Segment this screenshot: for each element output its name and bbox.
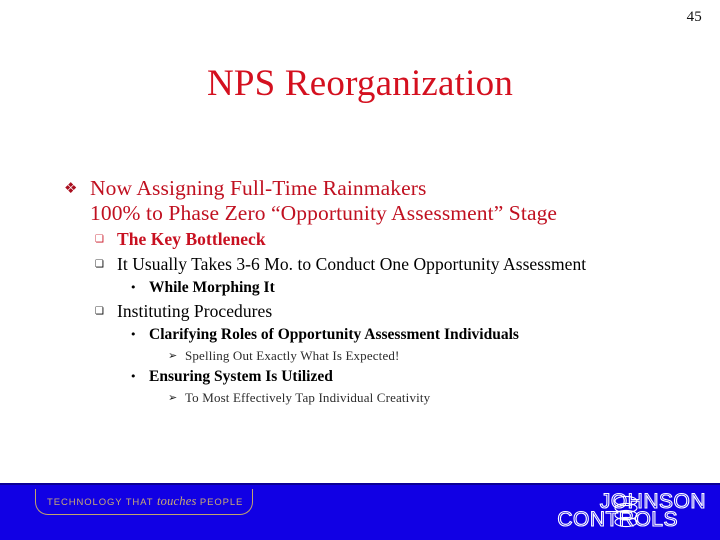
tagline-italic-word: touches <box>157 494 200 508</box>
bullet-text: Spelling Out Exactly What Is Expected! <box>185 346 720 365</box>
bullet-item: ➢ To Most Effectively Tap Individual Cre… <box>168 388 720 407</box>
tagline: TECHNOLOGY THAT touches PEOPLE <box>47 494 243 509</box>
bullet-level1-line1: Now Assigning Full-Time Rainmakers <box>90 176 426 200</box>
bullet-item: ❏ The Key Bottleneck <box>95 228 720 251</box>
bullet-text: It Usually Takes 3-6 Mo. to Conduct One … <box>117 253 720 276</box>
round-bullet-icon: • <box>130 277 149 298</box>
arrow-bullet-icon: ➢ <box>168 346 185 365</box>
bullet-item: ❏ Instituting Procedures <box>95 300 720 323</box>
johnson-controls-logo: JOHNSON CONTROLS <box>528 486 708 536</box>
bullet-text: The Key Bottleneck <box>117 228 720 251</box>
footer-band: TECHNOLOGY THAT touches PEOPLE JOHNSON C… <box>0 483 720 540</box>
bullet-item: • Clarifying Roles of Opportunity Assess… <box>130 324 720 345</box>
bullet-level1: ❖ Now Assigning Full-Time Rainmakers 100… <box>64 176 720 226</box>
square-bullet-icon: ❏ <box>95 300 117 323</box>
bullet-item: • While Morphing It <box>130 277 720 298</box>
floret-bullet-icon: ❖ <box>64 176 90 201</box>
bullet-level1-text: Now Assigning Full-Time Rainmakers 100% … <box>90 176 720 226</box>
presentation-slide: 45 NPS Reorganization ❖ Now Assigning Fu… <box>0 0 720 540</box>
slide-body: ❖ Now Assigning Full-Time Rainmakers 100… <box>0 176 720 407</box>
bullet-text: Instituting Procedures <box>117 300 720 323</box>
bullet-item: ➢ Spelling Out Exactly What Is Expected! <box>168 346 720 365</box>
bullet-text: While Morphing It <box>149 277 720 298</box>
square-bullet-icon: ❏ <box>95 228 117 251</box>
bullet-level1-line2: 100% to Phase Zero “Opportunity Assessme… <box>90 201 720 226</box>
tagline-part1: TECHNOLOGY THAT <box>47 497 157 508</box>
round-bullet-icon: • <box>130 366 149 387</box>
bullet-text: To Most Effectively Tap Individual Creat… <box>185 388 720 407</box>
page-number: 45 <box>687 9 702 26</box>
slide-title: NPS Reorganization <box>0 62 720 106</box>
bullet-item: • Ensuring System Is Utilized <box>130 366 720 387</box>
bullet-text: Clarifying Roles of Opportunity Assessme… <box>149 324 720 345</box>
bullet-item: ❏ It Usually Takes 3-6 Mo. to Conduct On… <box>95 253 720 276</box>
square-bullet-icon: ❏ <box>95 253 117 276</box>
bullet-text: Ensuring System Is Utilized <box>149 366 720 387</box>
round-bullet-icon: • <box>130 324 149 345</box>
tagline-part2: PEOPLE <box>200 497 243 508</box>
arrow-bullet-icon: ➢ <box>168 388 185 407</box>
